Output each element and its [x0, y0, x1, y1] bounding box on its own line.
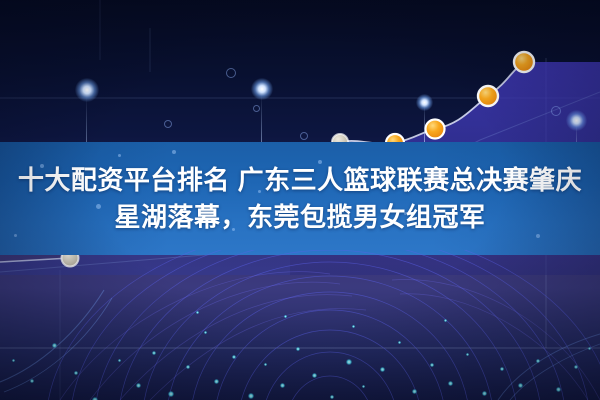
- deco-ring-1: [226, 68, 236, 78]
- headline-line-1: 十大配资平台排名 广东三人篮球联赛总决赛肇庆: [18, 164, 582, 196]
- deco-ring-2: [164, 120, 172, 128]
- deco-ring-3: [253, 105, 260, 112]
- headline-text-block: 十大配资平台排名 广东三人篮球联赛总决赛肇庆 星湖落幕，东莞包揽男女组冠军: [0, 142, 600, 255]
- deco-ring-6: [300, 132, 308, 140]
- deco-ring-4: [551, 106, 561, 116]
- cyan-particle-field: [0, 255, 600, 400]
- promo-banner-image: 十大配资平台排名 广东三人篮球联赛总决赛肇庆 星湖落幕，东莞包揽男女组冠军: [0, 0, 600, 400]
- headline-line-2: 星湖落幕，东莞包揽男女组冠军: [114, 201, 485, 233]
